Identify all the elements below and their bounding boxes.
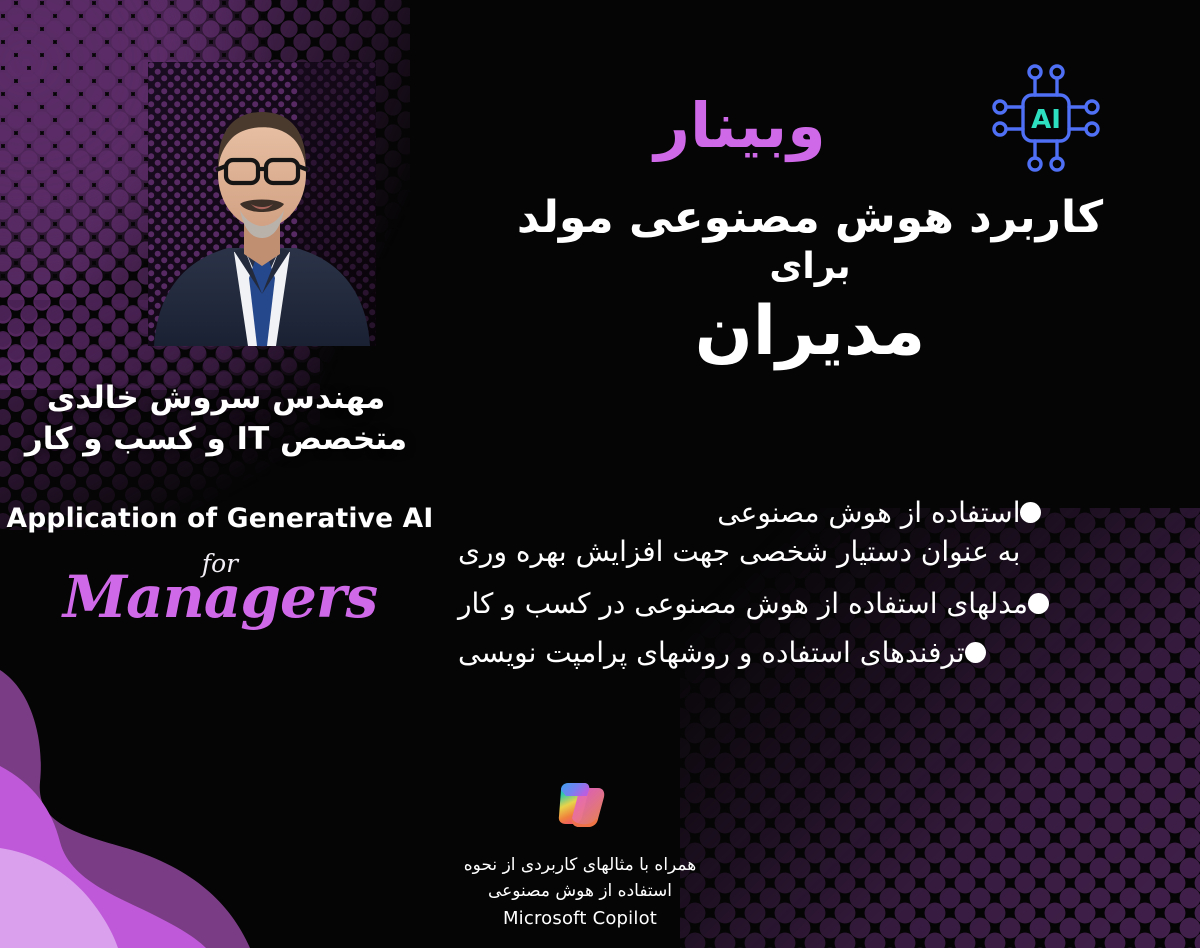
list-item-text: استفاده از هوش مصنوعی به عنوان دستیار شخ… — [458, 494, 1020, 571]
headline-line-1: کاربرد هوش مصنوعی مولد — [500, 192, 1120, 244]
list-item: مدلهای استفاده از هوش مصنوعی در کسب و کا… — [458, 585, 1158, 624]
bullet-dot-icon — [1020, 502, 1041, 523]
microsoft-copilot-logo — [548, 776, 612, 840]
topics-list: استفاده از هوش مصنوعی به عنوان دستیار شخ… — [458, 494, 1158, 681]
list-item-text: مدلهای استفاده از هوش مصنوعی در کسب و کا… — [458, 585, 1028, 624]
headline-line-2: برای — [500, 246, 1120, 288]
english-audience-word: Managers — [0, 563, 440, 631]
list-item-line-1: مدلهای استفاده از هوش مصنوعی در کسب و کا… — [458, 585, 1028, 624]
list-item-text: ترفندهای استفاده و روشهای پرامپت نویسی — [458, 634, 965, 673]
speaker-portrait-photo — [148, 62, 376, 346]
footer-note: همراه با مثالهای کاربردی از نحوه استفاده… — [430, 852, 730, 933]
speaker-name-block: مهندس سروش خالدی متخصص IT و کسب و کار — [0, 378, 432, 460]
bullet-dot-icon — [1028, 593, 1049, 614]
list-item: ترفندهای استفاده و روشهای پرامپت نویسی — [458, 634, 1158, 673]
purple-wave-decoration — [0, 648, 330, 948]
list-item-line-1: ترفندهای استفاده و روشهای پرامپت نویسی — [458, 634, 965, 673]
portrait-illustration — [148, 62, 376, 346]
footer-note-line-2: استفاده از هوش مصنوعی — [430, 878, 730, 904]
webinar-poster: مهندس سروش خالدی متخصص IT و کسب و کار Ap… — [0, 0, 1200, 948]
list-item: استفاده از هوش مصنوعی به عنوان دستیار شخ… — [458, 494, 1158, 571]
footer-note-line-1: همراه با مثالهای کاربردی از نحوه — [430, 852, 730, 878]
speaker-role: متخصص IT و کسب و کار — [0, 419, 432, 460]
ai-chip-icon: AI — [988, 60, 1104, 176]
webinar-label: وبینار — [520, 95, 960, 157]
speaker-name: مهندس سروش خالدی — [0, 378, 432, 419]
bullet-dot-icon — [965, 642, 986, 663]
footer-product-name: Microsoft Copilot — [430, 905, 730, 933]
headline: کاربرد هوش مصنوعی مولد برای مدیران — [500, 192, 1120, 373]
ai-chip-label: AI — [1031, 105, 1061, 135]
headline-line-3: مدیران — [500, 292, 1120, 372]
english-main-title: Application of Generative AI — [0, 503, 440, 534]
list-item-line-1: استفاده از هوش مصنوعی — [458, 494, 1020, 533]
list-item-line-2: به عنوان دستیار شخصی جهت افزایش بهره وری — [458, 533, 1020, 572]
